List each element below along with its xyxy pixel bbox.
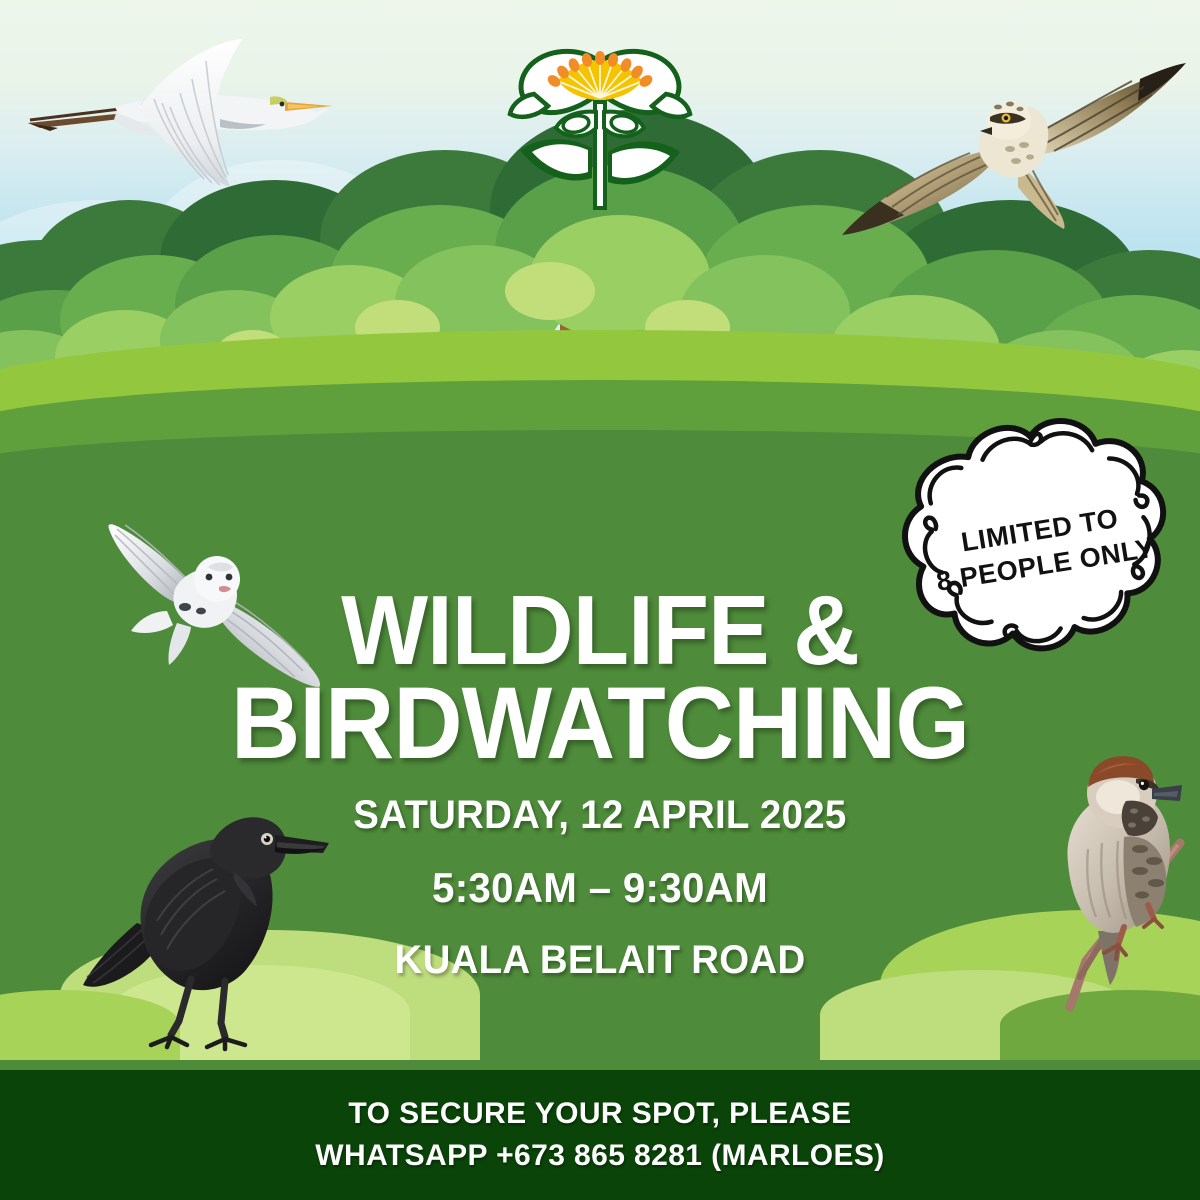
footer-whatsapp-contact[interactable]: WHATSAPP +673 865 8281 (MARLOES) bbox=[315, 1139, 884, 1173]
sparrow-bird-illustration bbox=[1040, 745, 1190, 1035]
event-date: SATURDAY, 12 APRIL 2025 bbox=[353, 793, 846, 838]
tern-bird-illustration bbox=[105, 515, 335, 695]
osprey-bird-illustration bbox=[840, 45, 1190, 260]
limited-capacity-badge: LIMITED TO 8 PEOPLE ONLY bbox=[900, 410, 1185, 685]
simpoh-flower-logo bbox=[500, 40, 700, 210]
event-time: 5:30AM – 9:30AM bbox=[432, 864, 768, 912]
poster: LIMITED TO 8 PEOPLE ONLY WILDLIFE & BIRD… bbox=[0, 0, 1200, 1200]
egret-bird-illustration bbox=[20, 35, 340, 245]
footer-line-1: TO SECURE YOUR SPOT, PLEASE bbox=[348, 1097, 851, 1131]
badge-text-group: LIMITED TO 8 PEOPLE ONLY bbox=[880, 389, 1200, 705]
event-location: KUALA BELAIT ROAD bbox=[395, 938, 806, 983]
contact-footer: TO SECURE YOUR SPOT, PLEASE WHATSAPP +67… bbox=[0, 1070, 1200, 1200]
crow-bird-illustration bbox=[75, 795, 350, 1050]
